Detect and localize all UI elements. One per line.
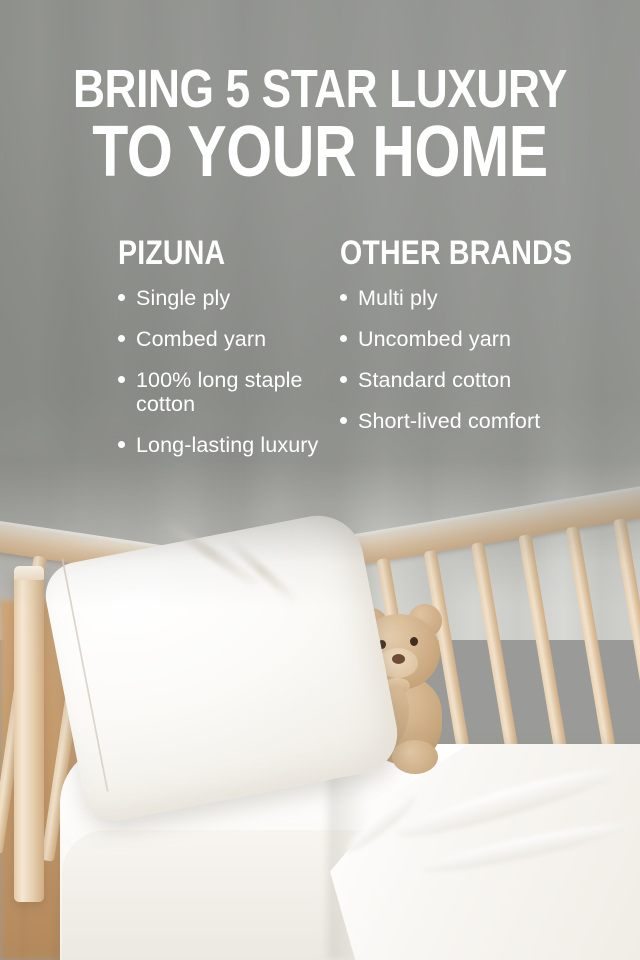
column-pizuna: PIZUNA Single ply Combed yarn 100% long … bbox=[118, 236, 333, 474]
headline-line-1: BRING 5 STAR LUXURY bbox=[58, 64, 583, 116]
headline-line-2: TO YOUR HOME bbox=[58, 118, 583, 187]
list-item: Uncombed yarn bbox=[340, 327, 560, 351]
list-item: Long-lasting luxury bbox=[118, 433, 333, 457]
column-title-other-brands: OTHER BRANDS bbox=[340, 236, 525, 270]
list-item: Multi ply bbox=[340, 286, 560, 310]
list-item: Combed yarn bbox=[118, 327, 333, 351]
column-title-pizuna: PIZUNA bbox=[118, 236, 299, 270]
list-item: Single ply bbox=[118, 286, 333, 310]
list-item: 100% long staple cotton bbox=[118, 368, 333, 416]
list-item: Short-lived comfort bbox=[340, 409, 560, 433]
other-brands-feature-list: Multi ply Uncombed yarn Standard cotton … bbox=[340, 286, 560, 433]
list-item: Standard cotton bbox=[340, 368, 560, 392]
pizuna-feature-list: Single ply Combed yarn 100% long staple … bbox=[118, 286, 333, 457]
poster: BRING 5 STAR LUXURY TO YOUR HOME PIZUNA … bbox=[0, 0, 640, 960]
marketing-copy: BRING 5 STAR LUXURY TO YOUR HOME PIZUNA … bbox=[0, 0, 640, 960]
headline: BRING 5 STAR LUXURY TO YOUR HOME bbox=[0, 64, 640, 187]
column-other-brands: OTHER BRANDS Multi ply Uncombed yarn Sta… bbox=[340, 236, 560, 450]
